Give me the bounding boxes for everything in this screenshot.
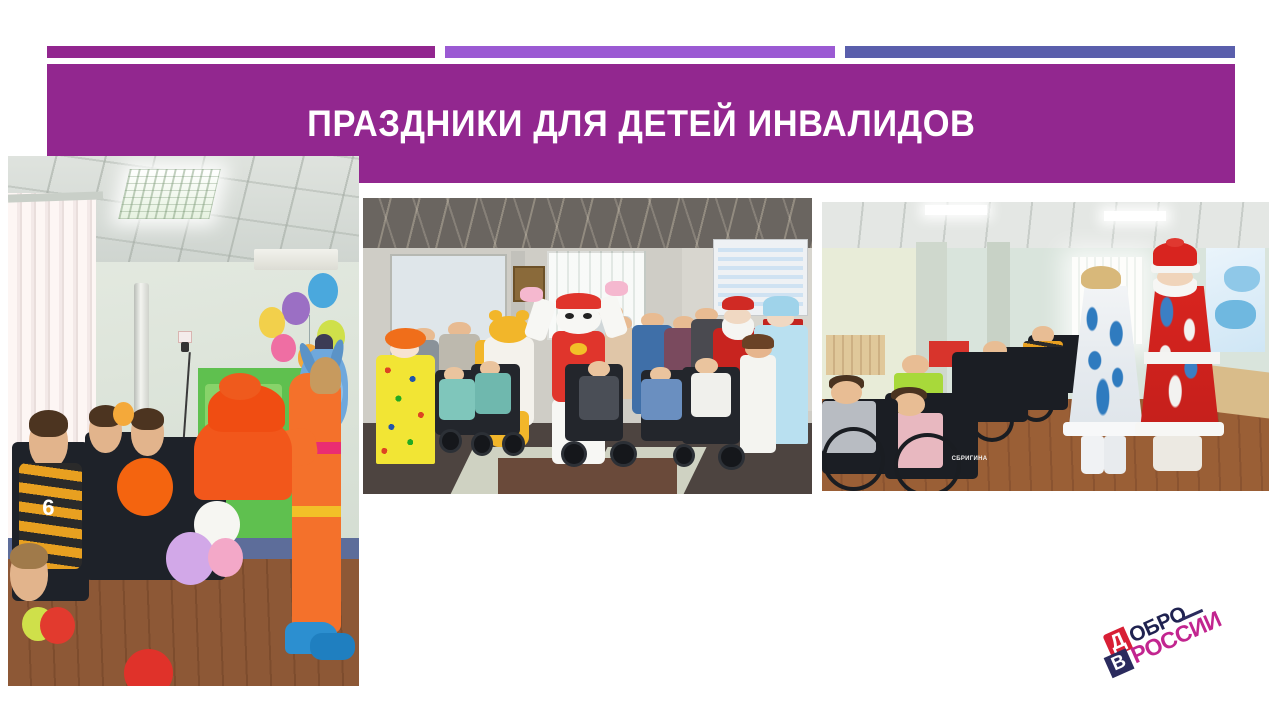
snegurochka-hair [1081, 266, 1121, 289]
photo-ded-moroz-visit: СБРИГИНА [822, 202, 1269, 491]
wheel [502, 432, 524, 456]
wheel [610, 441, 637, 468]
wheelchair-brand-label: СБРИГИНА [943, 456, 997, 468]
accent-bar-blue-violet [845, 46, 1235, 58]
poster-balloon-shape [1224, 266, 1260, 292]
wheel [471, 432, 493, 456]
entertainer-shoe-right [310, 633, 356, 660]
wall-balloon-blue [308, 273, 338, 308]
eeyore-hair [315, 334, 333, 350]
ceiling-grid [822, 202, 1269, 248]
logo-dobro-v-rossii: Д ОБРО В РОССИИ [1098, 598, 1224, 676]
ceiling-lamp-grill [118, 169, 221, 219]
accent-bar-light-purple [445, 46, 835, 58]
power-plug [181, 342, 189, 353]
toy-red [40, 607, 75, 644]
wall-shelf [826, 335, 884, 375]
child-head [695, 358, 717, 374]
dog-mascot-paw-left [520, 287, 542, 302]
wall-socket [178, 331, 192, 343]
child-body [641, 379, 681, 420]
child-hair [29, 410, 68, 437]
photo-lobby-group [363, 198, 812, 494]
ded-moroz-hat [722, 296, 753, 311]
ceiling-lamp [1104, 211, 1167, 221]
ded-moroz-hat-pompom [1166, 238, 1184, 247]
entertainer-leg-stripe [292, 506, 341, 518]
ded-moroz-belt [1144, 352, 1220, 364]
snegurochka-kokoshnik [763, 296, 799, 317]
girl-white-dress [740, 355, 776, 453]
slide: ПРАЗДНИКИ ДЛЯ ДЕТЕЙ ИНВАЛИДОВ [0, 0, 1280, 720]
tiger-mascot-head [489, 316, 529, 343]
wall-balloon-purple [282, 292, 310, 325]
jersey-number: 6 [36, 495, 61, 537]
clown-orange-wig [385, 328, 425, 349]
child-body [475, 373, 511, 414]
dog-mascot-hat [556, 293, 601, 309]
ded-moroz-boots [1153, 436, 1202, 471]
balloon-orange-large [117, 458, 173, 516]
snegurochka-boot-left [1081, 436, 1103, 474]
dog-mascot-paw-right [605, 281, 627, 296]
child-head [894, 393, 925, 416]
accent-bars [0, 46, 1280, 58]
entertainer-legs [292, 474, 341, 633]
dog-mascot-badge [570, 343, 588, 355]
page-title: ПРАЗДНИКИ ДЛЯ ДЕТЕЙ ИНВАЛИДОВ [307, 105, 975, 142]
wheel [822, 427, 885, 491]
ded-moroz-fur-hem [1135, 422, 1224, 436]
air-conditioner [254, 249, 338, 270]
clown-costume-pattern [376, 355, 434, 465]
wheel [439, 429, 461, 453]
dog-mascot-head [556, 305, 601, 335]
wheel [718, 444, 745, 471]
child-body [579, 376, 619, 420]
child-head [588, 361, 610, 377]
child-body [691, 373, 731, 417]
photo-therapy-room-balloons: 6 [8, 156, 359, 686]
child-body [439, 379, 475, 420]
girl-hair [742, 334, 773, 349]
accent-bar-dark-purple [47, 46, 435, 58]
child-hair [10, 543, 49, 570]
wall-balloon-pink [271, 334, 296, 363]
entertainer-hair [310, 357, 342, 394]
poster-cloud-shape [1215, 300, 1255, 329]
child-head [831, 381, 862, 404]
ceiling-lamp [925, 205, 988, 215]
entertainer-hat-top [219, 373, 261, 400]
snegurochka-boot-right [1104, 436, 1126, 474]
child-hair [131, 408, 164, 430]
